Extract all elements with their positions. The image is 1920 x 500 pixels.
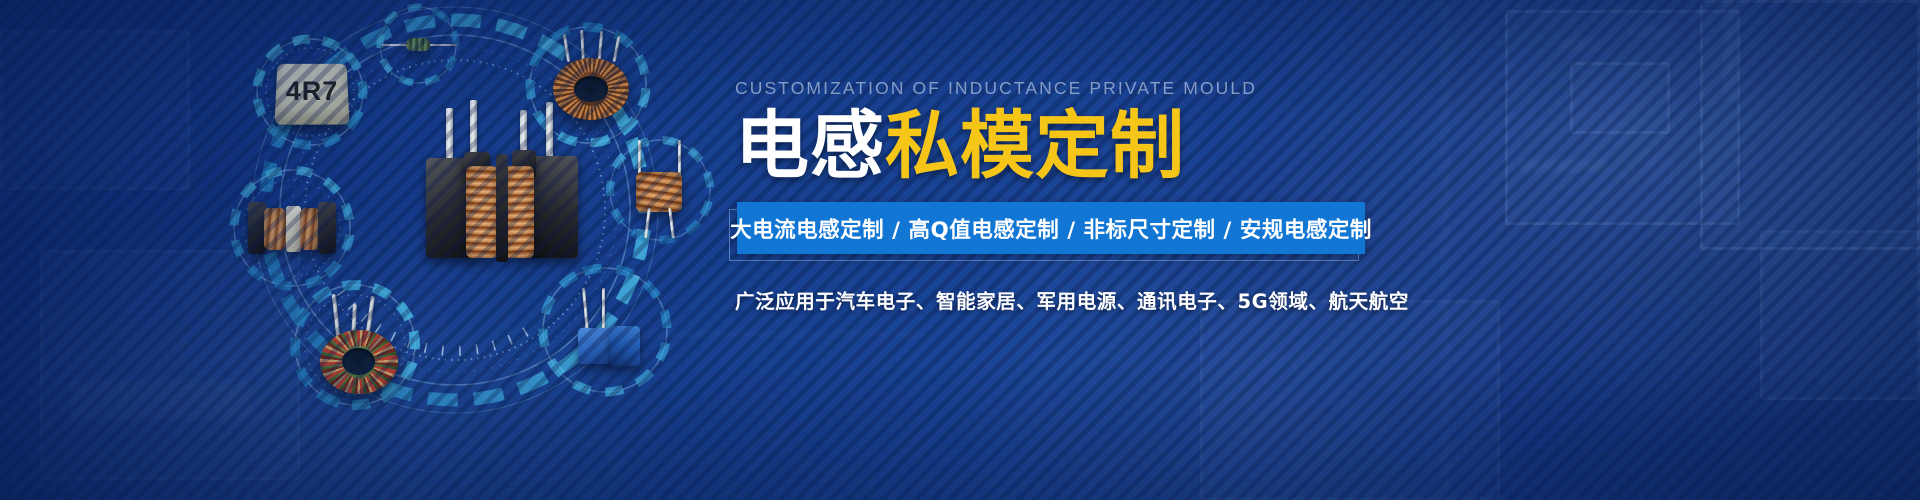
page-title: 电感私模定制 xyxy=(735,109,1375,184)
banner-copy: CUSTOMIZATION OF INDUCTANCE PRIVATE MOUL… xyxy=(735,78,1375,314)
feature-bar[interactable]: 大电流电感定制 / 高Q值电感定制 / 非标尺寸定制 / 安规电感定制 xyxy=(737,202,1365,254)
tagline-text: 广泛应用于汽车电子、智能家居、军用电源、通讯电子、5G领域、航天航空 xyxy=(735,285,1375,314)
headline-gold-part: 私模定制 xyxy=(885,103,1185,189)
promo-banner: 4R7 xyxy=(0,0,1920,500)
feature-bar-text: 大电流电感定制 / 高Q值电感定制 / 非标尺寸定制 / 安规电感定制 xyxy=(730,213,1372,244)
feature-bar-wrapper: 大电流电感定制 / 高Q值电感定制 / 非标尺寸定制 / 安规电感定制 xyxy=(735,202,1365,254)
headline-white-part: 电感 xyxy=(735,103,885,189)
eyebrow-text: CUSTOMIZATION OF INDUCTANCE PRIVATE MOUL… xyxy=(735,78,1375,99)
